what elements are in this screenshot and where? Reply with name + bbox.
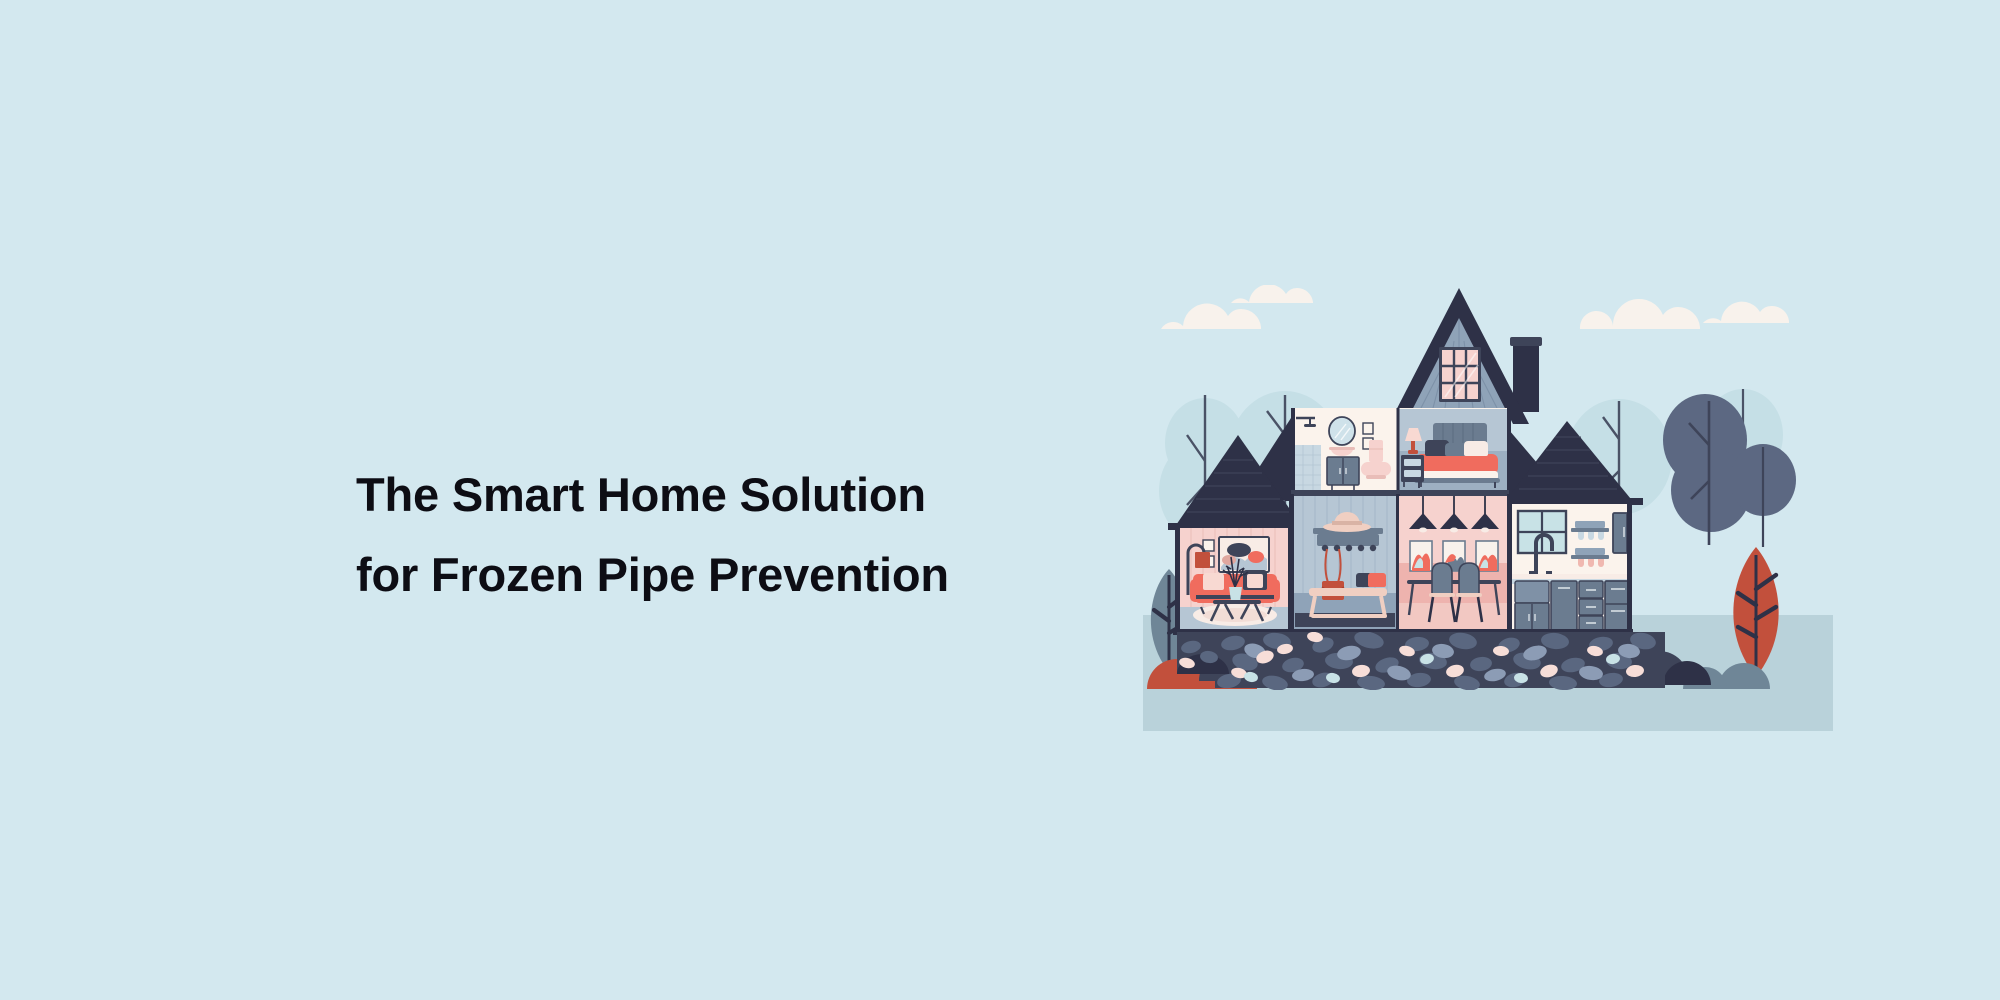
dining-pictures <box>1410 541 1498 571</box>
stone-foundation <box>1177 629 1665 693</box>
house-cutaway-illustration <box>1143 285 1833 735</box>
room-bathroom <box>1293 408 1397 493</box>
pendant-lamps <box>1409 496 1499 533</box>
room-dining <box>1399 494 1512 633</box>
room-hallway <box>1289 494 1400 633</box>
kitchen-window <box>1518 511 1566 553</box>
room-living <box>1175 525 1293 633</box>
vanity-cabinet <box>1327 457 1359 490</box>
headline-line-1: The Smart Home Solution <box>356 455 1076 535</box>
attic-window <box>1439 347 1481 402</box>
page-title: The Smart Home Solution for Frozen Pipe … <box>356 455 1076 615</box>
second-floor <box>1291 408 1511 494</box>
room-bedroom <box>1399 408 1509 493</box>
headline-line-2: for Frozen Pipe Prevention <box>356 535 1076 615</box>
bathroom-mirror <box>1329 417 1355 445</box>
bed <box>1414 440 1500 488</box>
room-kitchen <box>1512 502 1641 633</box>
banner: The Smart Home Solution for Frozen Pipe … <box>0 0 2000 1000</box>
